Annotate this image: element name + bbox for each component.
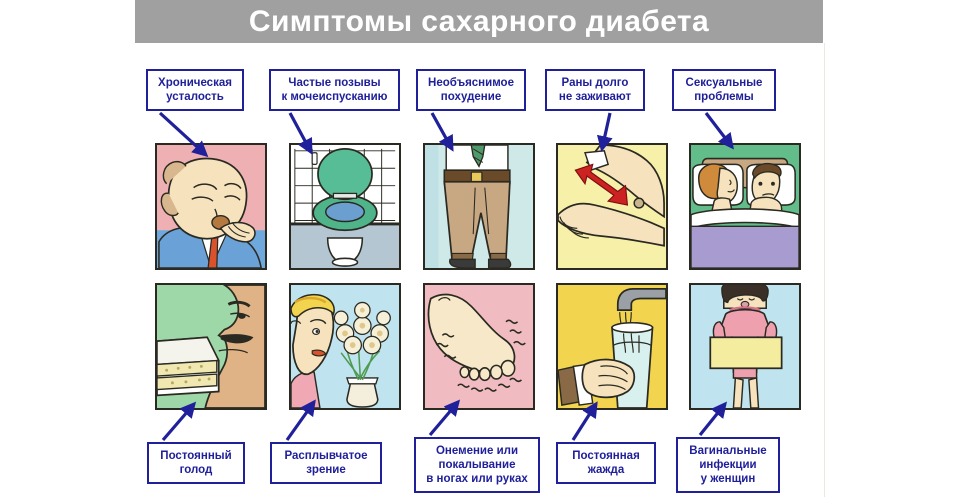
label-unexplained-weight-loss: Необъяснимое похудение	[416, 69, 526, 111]
label-chronic-fatigue: Хроническая усталость	[146, 69, 244, 111]
panel-couple-in-bed	[689, 143, 801, 270]
label-text: Хроническая усталость	[158, 76, 232, 104]
right-edge-divider	[824, 43, 825, 497]
label-constant-hunger: Постоянный голод	[147, 442, 245, 484]
label-slow-healing-wounds: Раны долго не заживают	[545, 69, 645, 111]
label-text: Онемение или покалывание в ногах или рук…	[426, 444, 527, 486]
label-sexual-problems: Сексуальные проблемы	[672, 69, 776, 111]
panel-toilet	[289, 143, 401, 270]
arrow-sexual-problems	[706, 113, 732, 147]
panel-glass-under-tap	[556, 283, 668, 410]
label-constant-thirst: Постоянная жажда	[556, 442, 656, 484]
panel-arm-with-wound	[556, 143, 668, 270]
panel-tingling-foot	[423, 283, 535, 410]
label-blurred-vision: Расплывчатое зрение	[270, 442, 382, 484]
label-text: Постоянная жажда	[572, 449, 640, 477]
panel-yawning-man	[155, 143, 267, 270]
panel-loose-pants-man	[423, 143, 535, 270]
label-text: Сексуальные проблемы	[686, 76, 763, 104]
label-text: Вагинальные инфекции у женщин	[689, 444, 766, 486]
label-text: Постоянный голод	[160, 449, 231, 477]
label-numbness-tingling: Онемение или покалывание в ногах или рук…	[414, 437, 540, 493]
panel-man-and-cake	[155, 283, 267, 410]
panel-woman-with-sign	[689, 283, 801, 410]
label-text: Раны долго не заживают	[559, 76, 631, 104]
label-text: Расплывчатое зрение	[285, 449, 368, 477]
label-frequent-urination: Частые позывы к мочеиспусканию	[269, 69, 400, 111]
label-text: Необъяснимое похудение	[428, 76, 514, 104]
page-title: Симптомы сахарного диабета	[249, 5, 709, 39]
panel-woman-and-flowers	[289, 283, 401, 410]
label-vaginal-infections: Вагинальные инфекции у женщин	[676, 437, 780, 493]
label-text: Частые позывы к мочеиспусканию	[281, 76, 387, 104]
infographic-root: Симптомы сахарного диабета Хроническая у…	[0, 0, 960, 497]
title-bar: Симптомы сахарного диабета	[135, 0, 823, 43]
